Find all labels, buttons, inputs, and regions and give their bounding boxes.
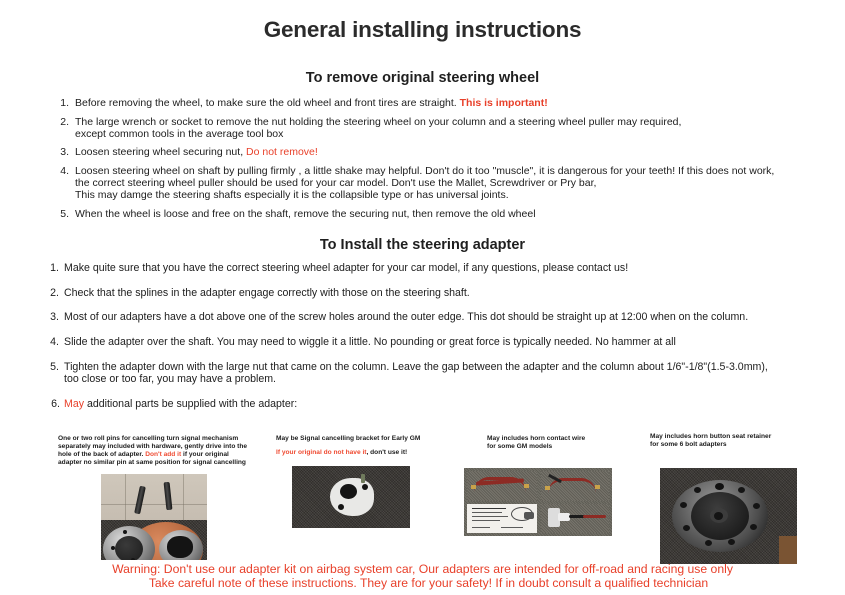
list-item: 5. When the wheel is loose and free on t… — [52, 208, 807, 220]
figure-signal-bracket: May be Signal cancelling bracket for Ear… — [276, 435, 426, 528]
warning-line-2: Take careful note of these instructions.… — [0, 576, 845, 591]
list-item: 5. Tighten the adapter down with the lar… — [45, 361, 800, 385]
caption-line: adapter no similar pin at same position … — [58, 459, 273, 467]
remove-steps-list: 1. Before removing the wheel, to make su… — [52, 86, 807, 220]
list-item: 4. Loosen steering wheel on shaft by pul… — [52, 165, 807, 201]
figure-horn-contact-wire: May includes horn contact wire for some … — [452, 435, 637, 536]
list-text: Loosen steering wheel on shaft by pullin… — [75, 165, 807, 201]
step-line: except common tools in the average tool … — [75, 128, 807, 140]
emphasis-dont-add-it: Don't add it — [145, 451, 181, 458]
caption-line: May be Signal cancelling bracket for Ear… — [276, 435, 426, 443]
step-line: This may damge the steering shafts espec… — [75, 189, 807, 201]
step-line: Most of our adapters have a dot above on… — [64, 311, 800, 323]
photo-horn-button-seat-retainer — [660, 468, 797, 564]
list-number: 3. — [45, 311, 59, 323]
list-text: When the wheel is loose and free on the … — [75, 208, 807, 220]
caption-line: for some GM models — [487, 443, 637, 451]
list-text: Loosen steering wheel securing nut, Do n… — [75, 146, 807, 158]
section-heading-remove: To remove original steering wheel — [0, 43, 845, 86]
list-item: 3. Loosen steering wheel securing nut, D… — [52, 146, 807, 158]
list-number: 4. — [45, 336, 59, 348]
list-number: 4. — [52, 165, 69, 177]
list-text: May additional parts be supplied with th… — [64, 397, 800, 412]
caption-line: If your original do not have it, don't u… — [276, 449, 426, 457]
caption-line: separately may included with hardware, g… — [58, 443, 273, 451]
list-item: 2. The large wrench or socket to remove … — [52, 116, 807, 140]
figure-caption-roll-pins: One or two roll pins for cancelling turn… — [58, 435, 273, 467]
figure-caption-horn-contact-wire: May includes horn contact wire for some … — [452, 435, 637, 451]
list-text: Most of our adapters have a dot above on… — [64, 311, 800, 323]
list-text: Slide the adapter over the shaft. You ma… — [64, 336, 800, 348]
list-number: 6. — [45, 397, 60, 412]
caption-text: if your original — [181, 451, 229, 458]
figure-caption-horn-button-seat-retainer: May includes horn button seat retainer f… — [640, 433, 835, 449]
warning-line-1: Warning: Don't use our adapter kit on ai… — [0, 562, 845, 577]
photo-horn-contact-wire — [464, 468, 612, 536]
step-line: When the wheel is loose and free on the … — [75, 208, 807, 220]
photo-signal-bracket — [292, 466, 410, 528]
step-text: additional parts be supplied with the ad… — [84, 398, 297, 410]
list-number: 5. — [52, 208, 69, 220]
step-line: Slide the adapter over the shaft. You ma… — [64, 336, 800, 348]
step-line: Loosen steering wheel on shaft by pullin… — [75, 165, 807, 177]
step-line: Tighten the adapter down with the large … — [64, 361, 800, 373]
list-text: The large wrench or socket to remove the… — [75, 116, 807, 140]
emphasis-do-not-remove: Do not remove! — [246, 146, 318, 158]
page-title: General installing instructions — [0, 0, 845, 43]
list-item: 1. Before removing the wheel, to make su… — [52, 97, 807, 109]
document-page: General installing instructions To remov… — [0, 0, 845, 595]
list-item: 1. Make quite sure that you have the cor… — [45, 262, 800, 274]
caption-text: hole of the back of adapter. — [58, 451, 145, 458]
step-text: Before removing the wheel, to make sure … — [75, 97, 460, 109]
list-number: 2. — [52, 116, 69, 128]
figure-roll-pins: One or two roll pins for cancelling turn… — [58, 435, 273, 560]
section-heading-install: To Install the steering adapter — [0, 226, 845, 253]
list-item: 3. Most of our adapters have a dot above… — [45, 311, 800, 323]
list-item: 4. Slide the adapter over the shaft. You… — [45, 336, 800, 348]
photo-roll-pins — [101, 474, 207, 560]
list-item: 2. Check that the splines in the adapter… — [45, 287, 800, 299]
step-text: Loosen steering wheel securing nut, — [75, 146, 246, 158]
list-number: 5. — [45, 361, 59, 373]
caption-line: for some 6 bolt adapters — [650, 441, 835, 449]
figure-row: One or two roll pins for cancelling turn… — [0, 425, 845, 560]
list-text: Tighten the adapter down with the large … — [64, 361, 800, 385]
caption-line: May includes horn button seat retainer — [650, 433, 835, 441]
step-line: the correct steering wheel puller should… — [75, 177, 807, 189]
caption-text: , don't use it! — [366, 449, 407, 456]
emphasis-if-not-have: If your original do not have it — [276, 449, 366, 456]
list-number: 3. — [52, 146, 69, 158]
caption-line: One or two roll pins for cancelling turn… — [58, 435, 273, 443]
list-item-additional-parts: 6. May additional parts be supplied with… — [45, 397, 800, 412]
instruction-card — [467, 504, 537, 533]
emphasis-may: May — [64, 398, 84, 410]
list-number: 2. — [45, 287, 59, 299]
list-text: Check that the splines in the adapter en… — [64, 287, 800, 299]
figure-caption-signal-bracket: May be Signal cancelling bracket for Ear… — [276, 435, 426, 457]
list-number: 1. — [45, 262, 59, 274]
list-text: Before removing the wheel, to make sure … — [75, 97, 807, 109]
list-text: Make quite sure that you have the correc… — [64, 262, 800, 274]
figure-horn-button-seat-retainer: May includes horn button seat retainer f… — [640, 433, 835, 564]
step-line: The large wrench or socket to remove the… — [75, 116, 807, 128]
caption-line: hole of the back of adapter. Don't add i… — [58, 451, 273, 459]
step-line: Check that the splines in the adapter en… — [64, 287, 800, 299]
install-steps-list: 1. Make quite sure that you have the cor… — [45, 253, 800, 412]
list-number: 1. — [52, 97, 69, 109]
step-line: Make quite sure that you have the correc… — [64, 262, 800, 274]
emphasis-important: This is important! — [460, 97, 548, 109]
warning-text: Warning: Don't use our adapter kit on ai… — [0, 560, 845, 591]
caption-line: May includes horn contact wire — [487, 435, 637, 443]
step-line: too close or too far, you may have a pro… — [64, 373, 800, 385]
